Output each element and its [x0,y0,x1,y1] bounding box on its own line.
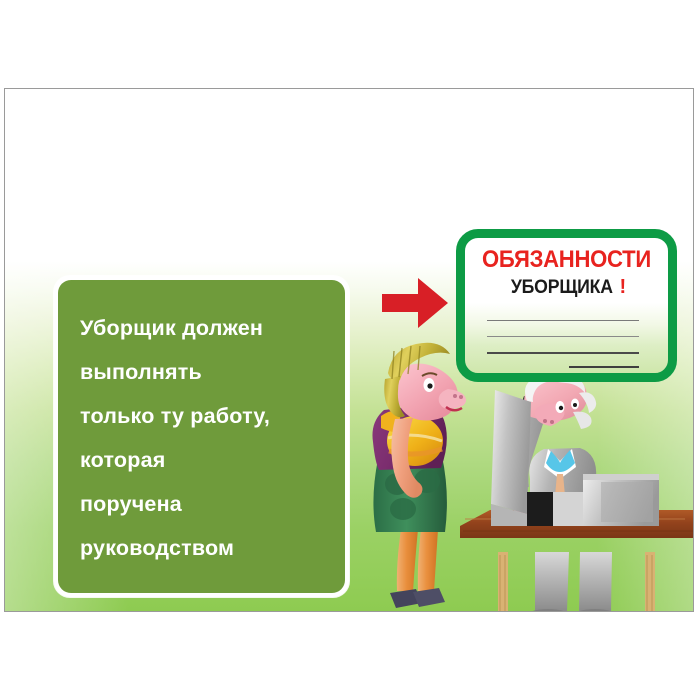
poster-root: Уборщик должен выполнять только ту работ… [0,0,700,700]
message-box: Уборщик должен выполнять только ту работ… [54,276,349,597]
sign-rule-5 [575,377,639,379]
message-line-6: руководством [80,526,325,570]
message-line-4: которая [80,438,325,482]
cleaner-woman-character [372,343,466,608]
sign-rule-2 [487,336,639,337]
sign-rule-4 [569,366,639,368]
right-arrow-icon [380,275,450,331]
message-line-2: выполнять [80,350,325,394]
sign-rule-3 [487,352,639,354]
sign-subtitle-row: УБОРЩИКА! [465,276,668,299]
poster-frame: Уборщик должен выполнять только ту работ… [4,88,694,612]
message-box-inner: Уборщик должен выполнять только ту работ… [58,280,345,593]
message-line-3: только ту работу, [80,394,325,438]
sign-exclamation: ! [620,276,627,298]
sign-rule-1 [487,320,639,321]
duties-sign: ОБЯЗАННОСТИ УБОРЩИКА! [456,229,677,382]
message-line-5: поручена [80,482,325,526]
message-line-1: Уборщик должен [80,306,325,350]
sign-subtitle: УБОРЩИКА [511,277,613,299]
sign-title: ОБЯЗАННОСТИ [473,246,660,274]
